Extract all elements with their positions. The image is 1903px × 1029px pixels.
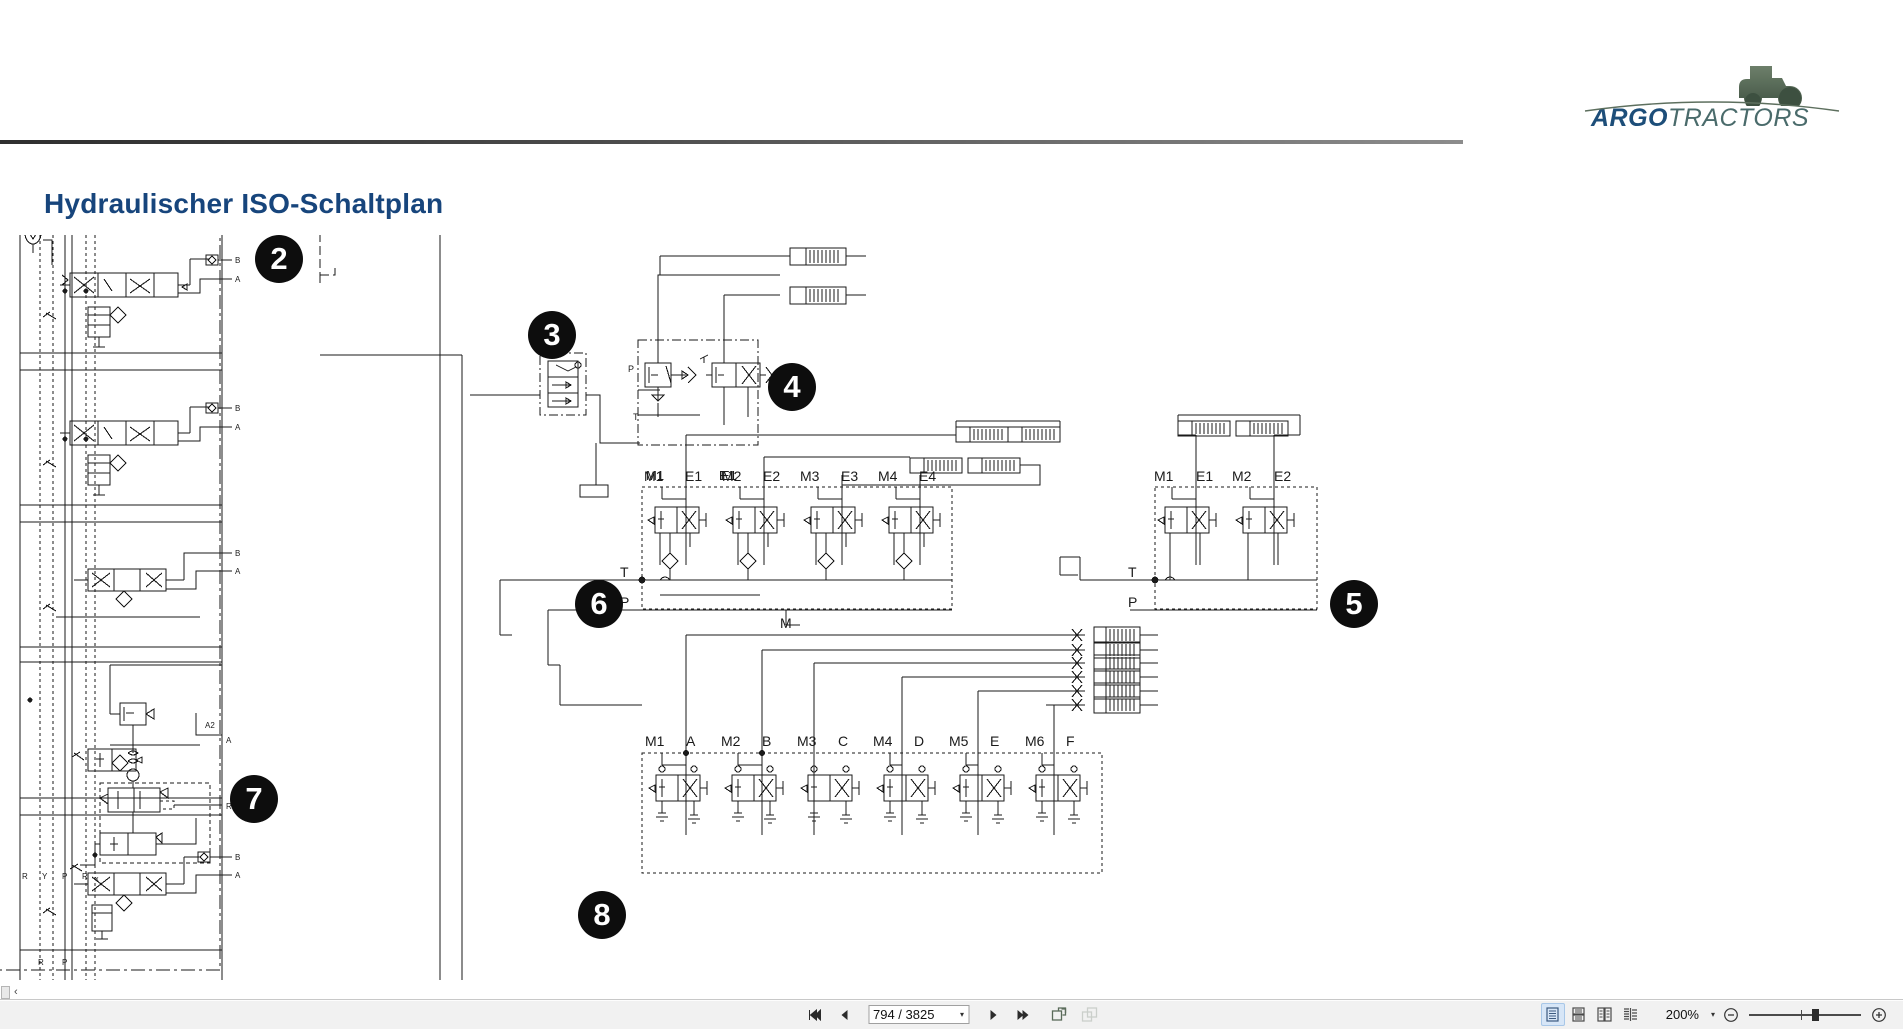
svg-text:P: P bbox=[62, 958, 67, 967]
svg-text:T: T bbox=[620, 564, 629, 580]
section-6-valve-cell bbox=[648, 507, 760, 595]
svg-text:B: B bbox=[235, 549, 240, 558]
svg-text:F: F bbox=[1066, 733, 1075, 749]
section-8-cylinder-row bbox=[1046, 627, 1158, 643]
zoom-out-button[interactable] bbox=[1719, 1003, 1743, 1026]
diagram-marker-8: 8 bbox=[578, 891, 626, 939]
svg-text:M4: M4 bbox=[873, 733, 893, 749]
diagram-marker-4: 4 bbox=[768, 363, 816, 411]
scroll-left-arrow[interactable]: ‹ bbox=[14, 986, 18, 999]
diagram-marker-5: 5 bbox=[1330, 580, 1378, 628]
svg-text:M4: M4 bbox=[878, 468, 898, 484]
horizontal-scrollbar[interactable]: ‹ bbox=[0, 986, 1903, 1000]
diagram-marker-6: 6 bbox=[575, 580, 623, 628]
svg-text:Y: Y bbox=[42, 872, 48, 881]
valve-block-b: B A bbox=[43, 403, 241, 495]
section-8-valve-cell bbox=[725, 766, 783, 823]
svg-text:A: A bbox=[235, 567, 241, 576]
last-page-button[interactable] bbox=[1011, 1003, 1035, 1026]
scrollbar-thumb[interactable] bbox=[1, 986, 10, 999]
header-divider bbox=[0, 140, 1463, 144]
svg-text:R: R bbox=[22, 872, 28, 881]
zoom-slider-track[interactable] bbox=[1749, 1014, 1861, 1016]
svg-text:A: A bbox=[235, 423, 241, 432]
svg-text:A2: A2 bbox=[205, 721, 215, 730]
svg-text:R: R bbox=[82, 872, 88, 881]
svg-text:M2: M2 bbox=[722, 468, 742, 484]
section-5-port-labels: M1 E1 M2 E2 bbox=[1154, 468, 1291, 484]
continuous-page-view-button[interactable] bbox=[1567, 1003, 1591, 1026]
section-5-line-labels: T P bbox=[1128, 564, 1137, 610]
svg-text:B: B bbox=[762, 733, 771, 749]
svg-text:D: D bbox=[914, 733, 924, 749]
svg-text:A: A bbox=[235, 871, 241, 880]
next-page-button[interactable] bbox=[981, 1003, 1005, 1026]
svg-text:M5: M5 bbox=[949, 733, 969, 749]
svg-text:B: B bbox=[235, 404, 240, 413]
duplicate-page-button[interactable] bbox=[1077, 1003, 1101, 1026]
section-6-valve-cell bbox=[726, 507, 784, 580]
svg-text:C: C bbox=[838, 733, 848, 749]
left-valve-stack: 20 bar W Y X bbox=[0, 235, 335, 980]
first-page-button[interactable] bbox=[802, 1003, 826, 1026]
svg-text:M1: M1 bbox=[645, 733, 665, 749]
svg-text:R: R bbox=[38, 958, 44, 967]
zoom-chevron-down-icon[interactable]: ▾ bbox=[1711, 1010, 1715, 1019]
zoom-in-button[interactable] bbox=[1867, 1003, 1891, 1026]
section-8-valve-cell bbox=[1029, 766, 1087, 823]
page-title: Hydraulischer ISO-Schaltplan bbox=[44, 188, 443, 220]
diagram-marker-3: 3 bbox=[528, 311, 576, 359]
zoom-slider[interactable] bbox=[1749, 1007, 1861, 1023]
section-8-valve-cell bbox=[801, 766, 859, 823]
svg-text:M3: M3 bbox=[800, 468, 820, 484]
diagram-marker-2: 2 bbox=[255, 235, 303, 283]
section-6-valve-cell bbox=[882, 507, 940, 580]
svg-text:E2: E2 bbox=[763, 468, 780, 484]
svg-text:E4: E4 bbox=[919, 468, 936, 484]
svg-text:M2: M2 bbox=[1232, 468, 1252, 484]
svg-text:E2: E2 bbox=[1274, 468, 1291, 484]
svg-text:E3: E3 bbox=[841, 468, 858, 484]
svg-text:A: A bbox=[226, 736, 232, 745]
section-5-bank bbox=[1060, 415, 1317, 610]
page-navigation-group: 794 / 3825 ▾ bbox=[802, 1000, 1101, 1029]
chevron-down-icon[interactable]: ▾ bbox=[960, 1010, 964, 1019]
section-5-valve-cell bbox=[1158, 507, 1216, 580]
section-6-port-labels: M1 E1 M2 E2 M3 E3 M4 E4 bbox=[644, 468, 936, 484]
main-feed-lines bbox=[320, 235, 462, 980]
svg-text:A: A bbox=[235, 275, 241, 284]
schematic-canvas: 20 bar W Y X bbox=[0, 235, 1903, 1000]
svg-text:M3: M3 bbox=[797, 733, 817, 749]
section-8-bank bbox=[560, 627, 1158, 873]
section-8-cylinder-row bbox=[1046, 642, 1158, 658]
document-page: ARGOTRACTORS Hydraulischer ISO-Schaltpla… bbox=[0, 0, 1903, 1000]
section-3-valve bbox=[470, 353, 640, 497]
svg-text:M: M bbox=[780, 615, 792, 631]
svg-text:P: P bbox=[1128, 594, 1137, 610]
pdf-viewer-window: ARGOTRACTORS Hydraulischer ISO-Schaltpla… bbox=[0, 0, 1903, 1029]
section-6-valve-cell bbox=[804, 507, 862, 580]
extract-page-button[interactable] bbox=[1047, 1003, 1071, 1026]
page-number-input[interactable]: 794 / 3825 ▾ bbox=[868, 1005, 969, 1024]
logo-horizon-arc bbox=[1583, 96, 1841, 112]
argo-tractors-logo: ARGOTRACTORS bbox=[1591, 60, 1841, 130]
svg-text:B: B bbox=[235, 256, 240, 265]
zoom-slider-thumb[interactable] bbox=[1812, 1009, 1819, 1021]
single-page-view-button[interactable] bbox=[1541, 1003, 1565, 1026]
svg-text:B: B bbox=[235, 853, 240, 862]
zoom-slider-tick bbox=[1801, 1010, 1802, 1020]
valve-block-a: B A bbox=[43, 255, 241, 347]
section-8-valve-cell bbox=[953, 766, 1011, 823]
section-5-valve-cell bbox=[1236, 507, 1294, 580]
svg-text:M1: M1 bbox=[1154, 468, 1174, 484]
two-page-continuous-view-button[interactable] bbox=[1619, 1003, 1643, 1026]
svg-text:P: P bbox=[62, 872, 67, 881]
previous-page-button[interactable] bbox=[832, 1003, 856, 1026]
section-8-valve-cell bbox=[877, 766, 935, 823]
section-4-block: P T bbox=[628, 248, 866, 445]
svg-text:E1: E1 bbox=[1196, 468, 1213, 484]
section-6-line-labels: T P M bbox=[620, 564, 792, 631]
section-8-valve-cell bbox=[649, 766, 707, 823]
svg-text:E1: E1 bbox=[685, 468, 702, 484]
svg-text:A: A bbox=[686, 733, 696, 749]
section-8-port-labels: M1 A M2 B M3 C M4 D M5 E M6 F bbox=[645, 733, 1075, 749]
zoom-level-value[interactable]: 200% bbox=[1659, 1007, 1699, 1022]
view-and-zoom-group: 200% ▾ bbox=[1541, 1000, 1891, 1029]
hydraulic-schematic: 20 bar W Y X bbox=[0, 235, 1903, 1000]
svg-text:T: T bbox=[1128, 564, 1137, 580]
svg-text:M1: M1 bbox=[644, 468, 664, 484]
svg-text:M6: M6 bbox=[1025, 733, 1045, 749]
valve-block-c: B A bbox=[43, 549, 241, 617]
page-number-value: 794 / 3825 bbox=[873, 1006, 960, 1023]
svg-text:M2: M2 bbox=[721, 733, 741, 749]
svg-text:T: T bbox=[633, 412, 639, 422]
viewer-toolbar: 794 / 3825 ▾ bbox=[0, 999, 1903, 1029]
diagram-marker-7: 7 bbox=[230, 775, 278, 823]
two-page-view-button[interactable] bbox=[1593, 1003, 1617, 1026]
svg-text:P: P bbox=[628, 364, 634, 374]
svg-text:E: E bbox=[990, 733, 999, 749]
